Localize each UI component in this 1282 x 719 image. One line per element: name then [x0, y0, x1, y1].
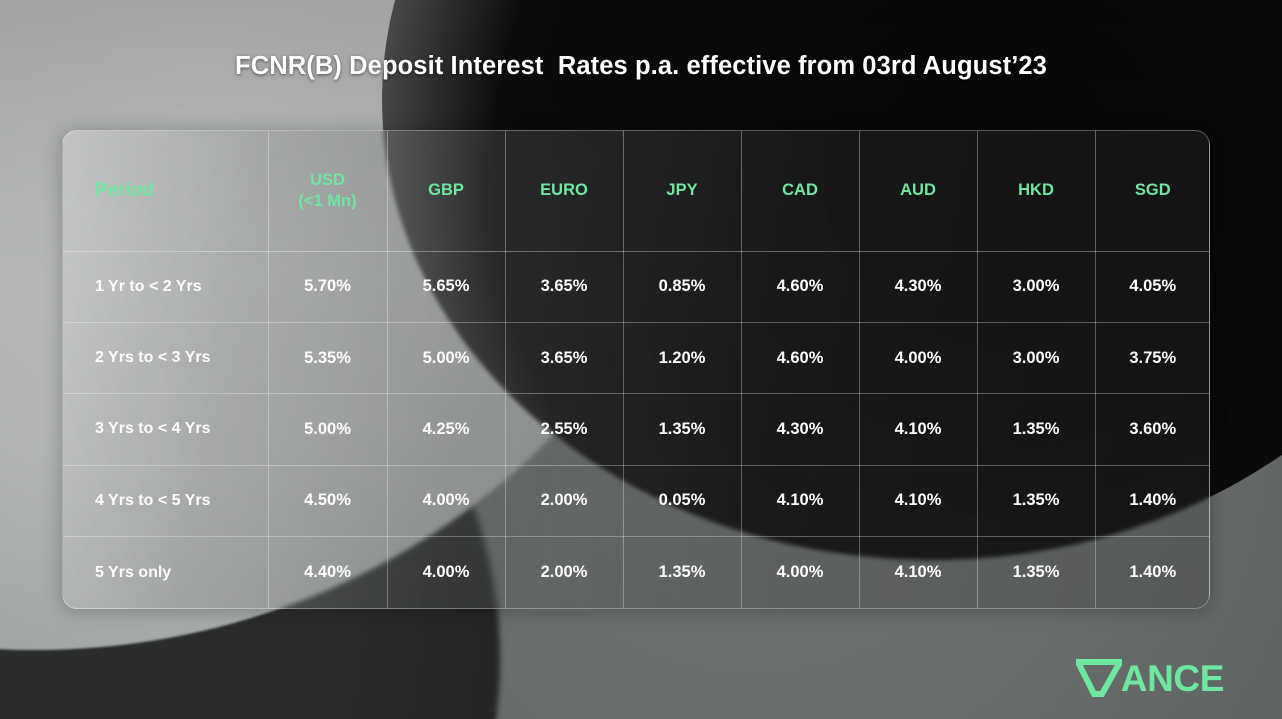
cell-cad: 4.60% [741, 251, 859, 322]
cell-hkd: 1.35% [977, 537, 1095, 608]
cell-sgd: 4.05% [1095, 251, 1210, 322]
cell-euro: 2.55% [505, 394, 623, 465]
cell-euro: 3.65% [505, 251, 623, 322]
cell-euro: 3.65% [505, 322, 623, 393]
vance-logo: ANCE [1076, 659, 1224, 697]
column-header-sgd: SGD [1095, 131, 1210, 251]
vance-wordmark: ANCE [1121, 660, 1224, 697]
page-title: FCNR(B) Deposit Interest Rates p.a. effe… [0, 52, 1282, 81]
column-header-jpy: JPY [623, 131, 741, 251]
cell-hkd: 3.00% [977, 251, 1095, 322]
cell-hkd: 3.00% [977, 322, 1095, 393]
cell-cad: 4.60% [741, 322, 859, 393]
cell-jpy: 0.85% [623, 251, 741, 322]
table-body: 1 Yr to < 2 Yrs 5.70% 5.65% 3.65% 0.85% … [63, 251, 1210, 608]
cell-hkd: 1.35% [977, 465, 1095, 536]
column-header-cad: CAD [741, 131, 859, 251]
vance-v-logo-icon [1076, 659, 1122, 697]
cell-usd: 5.00% [268, 394, 387, 465]
cell-usd: 4.50% [268, 465, 387, 536]
cell-euro: 2.00% [505, 465, 623, 536]
table-row: 4 Yrs to < 5 Yrs 4.50% 4.00% 2.00% 0.05%… [63, 465, 1210, 536]
cell-euro: 2.00% [505, 537, 623, 608]
table-row: 1 Yr to < 2 Yrs 5.70% 5.65% 3.65% 0.85% … [63, 251, 1210, 322]
column-header-period: Period [63, 131, 268, 251]
cell-jpy: 0.05% [623, 465, 741, 536]
cell-jpy: 1.35% [623, 537, 741, 608]
cell-cad: 4.10% [741, 465, 859, 536]
cell-hkd: 1.35% [977, 394, 1095, 465]
cell-gbp: 5.65% [387, 251, 505, 322]
column-header-gbp: GBP [387, 131, 505, 251]
cell-aud: 4.00% [859, 322, 977, 393]
cell-aud: 4.10% [859, 465, 977, 536]
cell-usd: 5.35% [268, 322, 387, 393]
cell-gbp: 5.00% [387, 322, 505, 393]
cell-usd: 5.70% [268, 251, 387, 322]
cell-gbp: 4.25% [387, 394, 505, 465]
cell-cad: 4.30% [741, 394, 859, 465]
table-row: 5 Yrs only 4.40% 4.00% 2.00% 1.35% 4.00%… [63, 537, 1210, 608]
cell-aud: 4.30% [859, 251, 977, 322]
table-header: Period USD (<1 Mn) GBP EURO JPY CAD AUD … [63, 131, 1210, 251]
column-header-usd: USD (<1 Mn) [268, 131, 387, 251]
table-row: 3 Yrs to < 4 Yrs 5.00% 4.25% 2.55% 1.35%… [63, 394, 1210, 465]
column-header-euro: EURO [505, 131, 623, 251]
fcnrb-rates-table: Period USD (<1 Mn) GBP EURO JPY CAD AUD … [63, 131, 1210, 608]
cell-usd: 4.40% [268, 537, 387, 608]
cell-gbp: 4.00% [387, 465, 505, 536]
table-row: 2 Yrs to < 3 Yrs 5.35% 5.00% 3.65% 1.20%… [63, 322, 1210, 393]
cell-sgd: 3.75% [1095, 322, 1210, 393]
cell-jpy: 1.20% [623, 322, 741, 393]
cell-gbp: 4.00% [387, 537, 505, 608]
cell-sgd: 1.40% [1095, 537, 1210, 608]
cell-period: 5 Yrs only [63, 537, 268, 608]
cell-period: 3 Yrs to < 4 Yrs [63, 394, 268, 465]
cell-aud: 4.10% [859, 537, 977, 608]
cell-cad: 4.00% [741, 537, 859, 608]
cell-sgd: 1.40% [1095, 465, 1210, 536]
cell-sgd: 3.60% [1095, 394, 1210, 465]
cell-jpy: 1.35% [623, 394, 741, 465]
column-header-aud: AUD [859, 131, 977, 251]
cell-period: 2 Yrs to < 3 Yrs [63, 322, 268, 393]
cell-period: 4 Yrs to < 5 Yrs [63, 465, 268, 536]
rates-table-card: Period USD (<1 Mn) GBP EURO JPY CAD AUD … [62, 130, 1210, 609]
column-header-hkd: HKD [977, 131, 1095, 251]
cell-aud: 4.10% [859, 394, 977, 465]
cell-period: 1 Yr to < 2 Yrs [63, 251, 268, 322]
header-row: Period USD (<1 Mn) GBP EURO JPY CAD AUD … [63, 131, 1210, 251]
